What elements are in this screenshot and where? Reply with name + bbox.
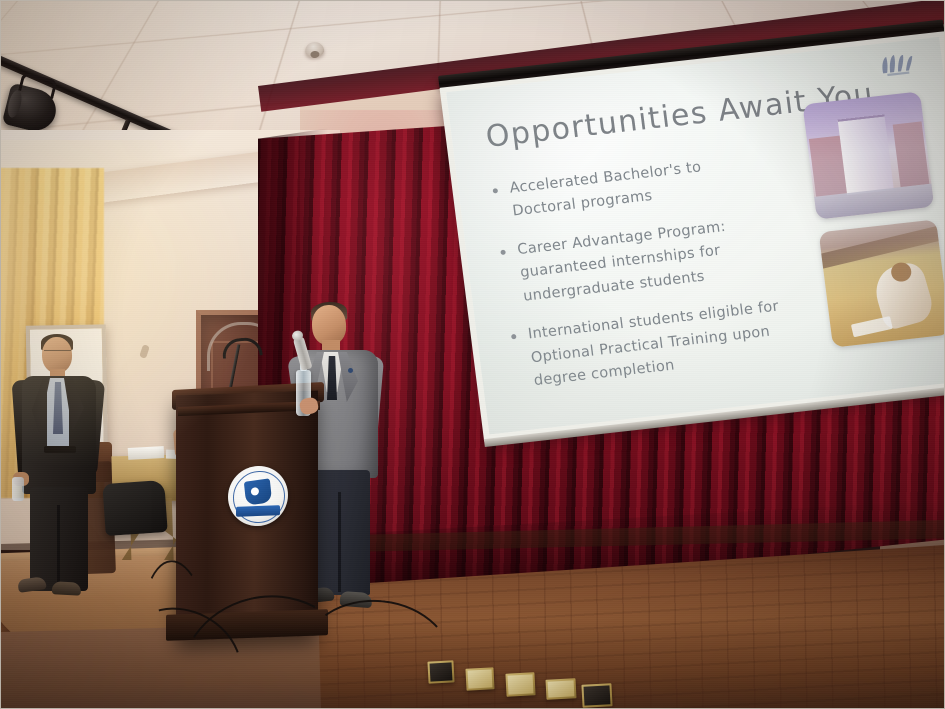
spotlight-lens: [6, 89, 24, 119]
outlet-plate: [548, 680, 575, 697]
projection-screen: Opportunities Await You Accelerated Bach…: [440, 31, 945, 442]
bullet-dot-icon: [493, 188, 499, 194]
lapel-pin-icon: [348, 368, 353, 373]
laptop-bag: [102, 480, 167, 536]
list-item: Career Advantage Program: guaranteed int…: [499, 211, 776, 311]
floor-outlet-box: [465, 667, 494, 690]
bullet-dot-icon: [511, 334, 517, 340]
building-foreground: [814, 183, 934, 219]
slide-photo-column: [802, 91, 945, 360]
outlet-plate: [468, 669, 493, 688]
list-item: International students eligible for Opti…: [510, 296, 787, 396]
bullet-dot-icon: [500, 250, 506, 256]
outlet-plate: [508, 674, 534, 694]
presentation-slide: Opportunities Await You Accelerated Bach…: [446, 37, 945, 435]
floor-outlet-box: [545, 678, 576, 700]
crown-logo-icon: [875, 49, 922, 80]
attendee-leg-split: [57, 505, 60, 587]
papers-on-table: [128, 446, 165, 460]
bullet-text: Career Advantage Program: guaranteed int…: [516, 211, 776, 309]
held-water-bottle: [12, 477, 24, 501]
projection-screen-assembly: Opportunities Await You Accelerated Bach…: [438, 19, 945, 492]
glasses-icon: [44, 350, 71, 358]
seal-banner: [236, 505, 280, 517]
list-item: Accelerated Bachelor's to Doctoral progr…: [491, 150, 765, 227]
lawn-path: [819, 225, 945, 270]
floor-outlet-box: [505, 672, 535, 696]
bullet-text: Accelerated Bachelor's to Doctoral progr…: [508, 150, 765, 225]
outlet-plate: [584, 685, 611, 705]
floor-outlet-box: [581, 683, 612, 708]
slide-bullet-list: Accelerated Bachelor's to Doctoral progr…: [491, 150, 789, 411]
building-wing: [893, 122, 929, 187]
auditorium-presentation-photo: Opportunities Await You Accelerated Bach…: [0, 0, 945, 709]
attendee-belt: [44, 446, 76, 453]
student-reading-photo: [819, 219, 945, 347]
bullet-text: International students eligible for Opti…: [527, 296, 787, 394]
campus-building-photo: [802, 91, 934, 219]
attendee-shoe: [52, 581, 82, 595]
open-book: [851, 316, 893, 337]
speaker-leg-split: [338, 492, 341, 592]
